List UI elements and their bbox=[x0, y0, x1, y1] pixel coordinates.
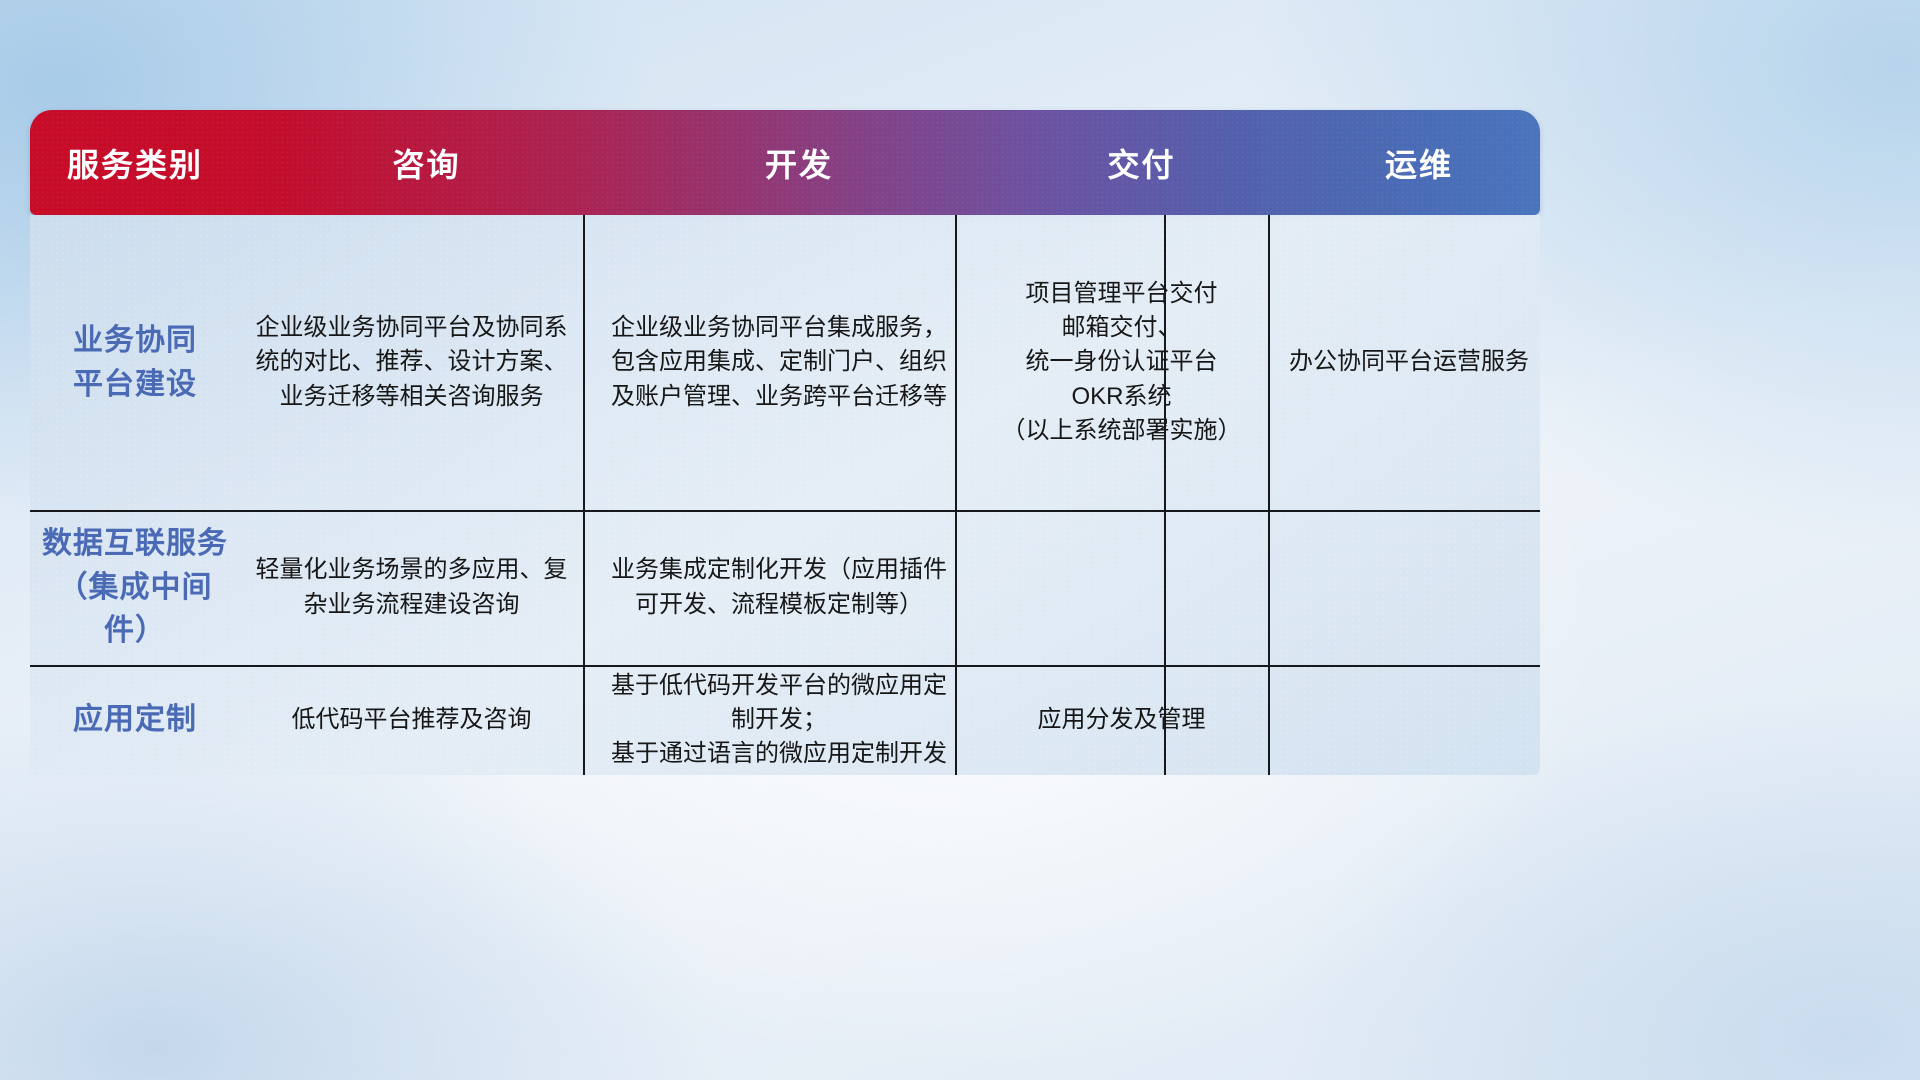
row-separator-2 bbox=[30, 665, 1540, 667]
row-2-category: 数据互联服务 （集成中间件） bbox=[30, 510, 240, 665]
row-2-operations bbox=[1278, 510, 1540, 665]
row-1-operations: 办公协同平台运营服务 bbox=[1278, 215, 1540, 510]
column-header-development: 开发 bbox=[613, 140, 985, 186]
row-3-consulting: 低代码平台推荐及咨询 bbox=[240, 665, 583, 775]
table-row: 业务协同 平台建设 企业级业务协同平台及协同系 统的对比、推荐、设计方案、 业务… bbox=[30, 215, 1540, 510]
row-3-category: 应用定制 bbox=[30, 665, 240, 775]
row-3-operations bbox=[1278, 665, 1540, 775]
row-3-delivery: 应用分发及管理 bbox=[965, 665, 1278, 775]
column-header-operations: 运维 bbox=[1298, 140, 1540, 186]
column-header-category: 服务类别 bbox=[30, 140, 240, 186]
column-separator-delivery-inner bbox=[1164, 215, 1166, 775]
column-header-delivery: 交付 bbox=[985, 140, 1298, 186]
table-row: 数据互联服务 （集成中间件） 轻量化业务场景的多应用、复 杂业务流程建设咨询 业… bbox=[30, 510, 1540, 665]
table-header-row: 服务类别 咨询 开发 交付 运维 bbox=[30, 110, 1540, 215]
row-1-consulting: 企业级业务协同平台及协同系 统的对比、推荐、设计方案、 业务迁移等相关咨询服务 bbox=[240, 215, 583, 510]
row-1-category: 业务协同 平台建设 bbox=[30, 215, 240, 510]
row-1-development: 企业级业务协同平台集成服务， 包含应用集成、定制门户、组织 及账户管理、业务跨平… bbox=[593, 215, 965, 510]
slide-canvas: 服务类别 咨询 开发 交付 运维 业务协同 平台建设 企业级业务协同平台及协同系… bbox=[0, 0, 1920, 1080]
table-row: 应用定制 低代码平台推荐及咨询 基于低代码开发平台的微应用定 制开发； 基于通过… bbox=[30, 665, 1540, 775]
column-header-consulting: 咨询 bbox=[240, 140, 613, 186]
row-separator-1 bbox=[30, 510, 1540, 512]
row-3-development: 基于低代码开发平台的微应用定 制开发； 基于通过语言的微应用定制开发 bbox=[593, 665, 965, 775]
column-separator-delivery-operations bbox=[1268, 215, 1270, 775]
column-separator-development-delivery bbox=[955, 215, 957, 775]
row-2-delivery bbox=[965, 510, 1278, 665]
service-matrix-table: 服务类别 咨询 开发 交付 运维 业务协同 平台建设 企业级业务协同平台及协同系… bbox=[30, 110, 1540, 775]
table-body: 业务协同 平台建设 企业级业务协同平台及协同系 统的对比、推荐、设计方案、 业务… bbox=[30, 215, 1540, 775]
column-separator-consulting-development bbox=[583, 215, 585, 775]
row-1-delivery: 项目管理平台交付 邮箱交付、 统一身份认证平台 OKR系统 （以上系统部署实施） bbox=[965, 215, 1278, 510]
row-2-consulting: 轻量化业务场景的多应用、复 杂业务流程建设咨询 bbox=[240, 510, 583, 665]
row-2-development: 业务集成定制化开发（应用插件 可开发、流程模板定制等） bbox=[593, 510, 965, 665]
